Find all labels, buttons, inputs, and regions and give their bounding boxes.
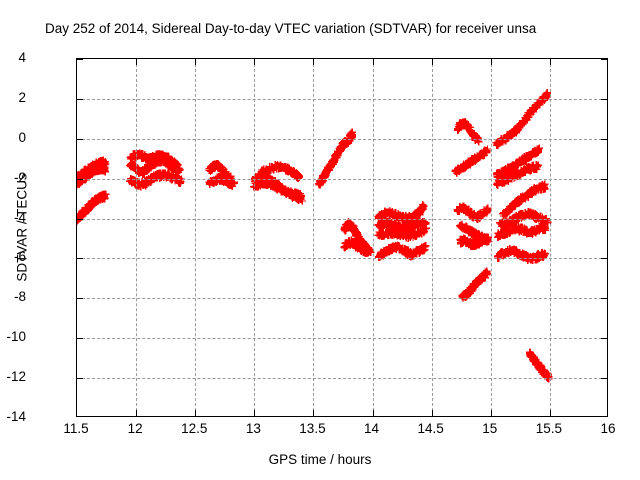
gridline-horizontal [77, 378, 607, 379]
x-axis-tick-label: 14.5 [401, 422, 461, 436]
x-axis-tick [491, 59, 492, 65]
y-axis-tick-label: 2 [0, 91, 26, 105]
x-axis-tick [254, 59, 255, 65]
x-axis-tick [373, 410, 374, 416]
x-axis-tick [313, 59, 314, 65]
x-axis-tick-label: 16 [578, 422, 638, 436]
y-axis-tick-label: -12 [0, 370, 26, 384]
x-axis-tick [195, 410, 196, 416]
gridline-horizontal [77, 139, 607, 140]
x-axis-tick-label: 15 [460, 422, 520, 436]
y-axis-tick-label: -8 [0, 290, 26, 304]
y-axis-tick-label: 0 [0, 131, 26, 145]
y-axis-tick [77, 338, 83, 339]
gridline-horizontal [77, 179, 607, 180]
y-axis-tick-label: -6 [0, 250, 26, 264]
gridline-vertical [136, 59, 137, 416]
x-axis-tick [195, 59, 196, 65]
gridline-horizontal [77, 338, 607, 339]
y-axis-tick-label: -14 [0, 410, 26, 424]
x-axis-tick [373, 59, 374, 65]
gridline-vertical [373, 59, 374, 416]
x-axis-tick [432, 59, 433, 65]
scatter-plot-figure: Day 252 of 2014, Sidereal Day-to-day VTE… [0, 0, 640, 480]
x-axis-tick [313, 410, 314, 416]
y-axis-tick [601, 258, 607, 259]
x-axis-tick [491, 410, 492, 416]
x-axis-label: GPS time / hours [0, 452, 640, 467]
gridline-vertical [491, 59, 492, 416]
x-axis-tick [254, 410, 255, 416]
gridline-horizontal [77, 298, 607, 299]
x-axis-tick-label: 11.5 [46, 422, 106, 436]
gridline-horizontal [77, 219, 607, 220]
x-axis-tick-label: 12 [105, 422, 165, 436]
y-axis-tick [601, 338, 607, 339]
y-axis-tick [77, 139, 83, 140]
gridline-horizontal [77, 99, 607, 100]
x-axis-tick [432, 410, 433, 416]
x-axis-tick [136, 59, 137, 65]
x-axis-tick-label: 15.5 [519, 422, 579, 436]
x-axis-tick-label: 13 [223, 422, 283, 436]
y-axis-tick-label: -2 [0, 171, 26, 185]
y-axis-tick [77, 179, 83, 180]
gridline-vertical [550, 59, 551, 416]
y-axis-tick [601, 378, 607, 379]
gridline-vertical [195, 59, 196, 416]
x-axis-tick-label: 12.5 [164, 422, 224, 436]
y-axis-tick [77, 258, 83, 259]
gridline-vertical [254, 59, 255, 416]
y-axis-tick-label: -4 [0, 211, 26, 225]
y-axis-tick [77, 99, 83, 100]
y-axis-tick [601, 99, 607, 100]
x-axis-tick-label: 13.5 [282, 422, 342, 436]
x-axis-tick-label: 14 [342, 422, 402, 436]
y-axis-tick [601, 219, 607, 220]
gridline-vertical [313, 59, 314, 416]
x-axis-tick [136, 410, 137, 416]
y-axis-tick [77, 219, 83, 220]
y-axis-tick-label: -10 [0, 330, 26, 344]
page-title: Day 252 of 2014, Sidereal Day-to-day VTE… [45, 21, 536, 37]
y-axis-tick [601, 179, 607, 180]
data-layer [77, 59, 608, 417]
y-axis-tick [601, 139, 607, 140]
y-axis-tick [601, 298, 607, 299]
y-axis-tick-label: 4 [0, 51, 26, 65]
y-axis-tick [77, 298, 83, 299]
y-axis-tick [601, 59, 607, 60]
x-axis-tick [550, 410, 551, 416]
y-axis-tick [77, 378, 83, 379]
y-axis-tick [77, 59, 83, 60]
gridline-horizontal [77, 258, 607, 259]
x-axis-tick [550, 59, 551, 65]
plot-area [76, 58, 608, 417]
gridline-vertical [432, 59, 433, 416]
